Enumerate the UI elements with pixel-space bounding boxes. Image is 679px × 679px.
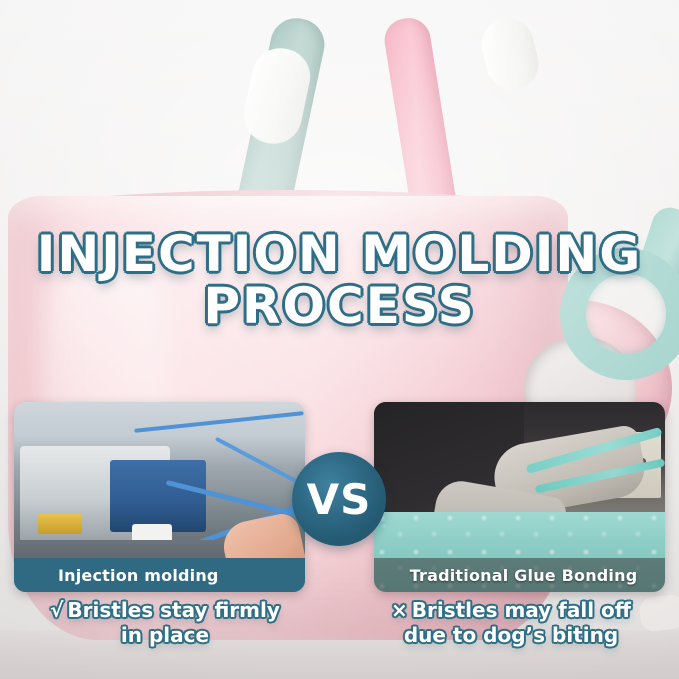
benefit-right-line-2: due to dog’s biting [346, 623, 676, 648]
cross-mark-icon: × [391, 598, 408, 623]
benefit-left-line-2: in place [0, 623, 330, 648]
panel-injection-molding[interactable]: Injection molding [14, 402, 305, 592]
vs-badge-label: VS [307, 475, 372, 524]
caption-traditional-glue-bonding: Traditional Glue Bonding [374, 558, 665, 592]
benefit-right: ×Bristles may fall off due to dog’s biti… [346, 598, 676, 648]
molding-machine-blue-unit [110, 460, 206, 532]
vs-badge: VS [292, 452, 386, 546]
page-title-line-2: PROCESS [0, 280, 679, 332]
product-infographic: INJECTION MOLDING PROCESS Injection mold… [0, 0, 679, 679]
check-mark-icon: √ [50, 598, 63, 623]
panel-traditional-glue-bonding[interactable]: b Traditional Glue Bonding [374, 402, 665, 592]
benefit-left-line-1: √Bristles stay firmly [0, 598, 330, 623]
machine-control-panel [38, 514, 82, 534]
benefit-left: √Bristles stay firmly in place [0, 598, 330, 648]
caption-injection-molding: Injection molding [14, 558, 305, 592]
benefit-left-text-1: Bristles stay firmly [67, 598, 279, 622]
benefit-right-line-1: ×Bristles may fall off [346, 598, 676, 623]
page-title: INJECTION MOLDING PROCESS [0, 228, 679, 332]
blue-tube-a [134, 411, 303, 433]
page-title-line-1: INJECTION MOLDING [0, 228, 679, 280]
blue-tube-d [215, 437, 305, 487]
benefit-right-text-1: Bristles may fall off [412, 598, 631, 622]
